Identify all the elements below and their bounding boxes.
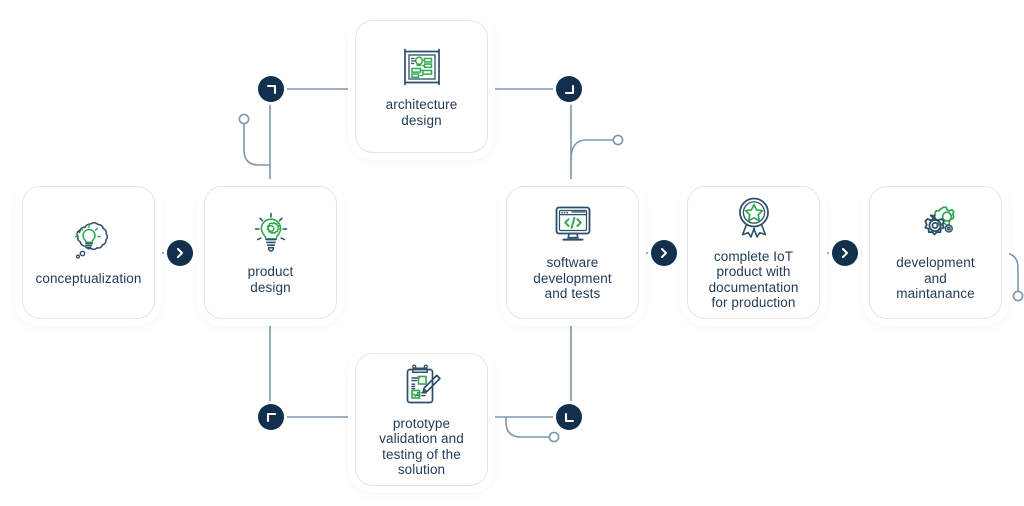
monitor-code-icon — [550, 203, 596, 247]
elbow-down-left-icon — [563, 83, 576, 96]
node-label: software development and tests — [533, 255, 611, 302]
node-complete-iot-product[interactable]: complete IoT product with documentation … — [687, 186, 820, 319]
port-stub-upper-right — [613, 135, 622, 144]
arrow-software-to-complete-iot[interactable] — [651, 240, 677, 266]
port-stub-upper-left — [239, 114, 248, 123]
wire-stub-upper-left — [244, 119, 270, 165]
node-label: prototype validation and testing of the … — [379, 416, 464, 478]
corner-product-design-to-prototype[interactable] — [258, 404, 284, 430]
node-label: development and maintanance — [896, 255, 974, 302]
wire-stub-lower-right — [506, 417, 554, 437]
node-label: complete IoT product with documentation … — [709, 249, 799, 311]
chevron-right-icon — [658, 247, 670, 259]
node-label: product design — [248, 264, 294, 295]
wire-stub-upper-right — [571, 140, 618, 160]
clipboard-checklist-pencil-icon — [399, 362, 445, 408]
node-prototype-validation[interactable]: prototype validation and testing of the … — [355, 353, 488, 486]
node-product-design[interactable]: product design — [204, 186, 337, 319]
node-label: architecture design — [386, 97, 458, 128]
blueprint-flowchart-icon — [398, 45, 446, 89]
corner-product-design-to-architecture[interactable] — [258, 76, 284, 102]
award-ribbon-star-icon — [732, 195, 776, 241]
corner-architecture-to-software[interactable] — [556, 76, 582, 102]
node-software-development[interactable]: software development and tests — [506, 186, 639, 319]
chevron-right-icon — [839, 247, 851, 259]
node-development-maintenance[interactable]: development and maintanance — [869, 186, 1002, 319]
elbow-up-left-icon — [563, 411, 576, 424]
gears-icon — [913, 203, 959, 247]
corner-prototype-to-software[interactable] — [556, 404, 582, 430]
port-stub-lower-right — [549, 432, 558, 441]
arrow-conceptualization-to-product-design[interactable] — [167, 240, 193, 266]
wire-stub-far-right — [1002, 253, 1018, 296]
thought-bubble-lightbulb-icon — [66, 219, 112, 263]
arrow-complete-iot-to-development[interactable] — [832, 240, 858, 266]
node-architecture-design[interactable]: architecture design — [355, 20, 488, 153]
lightbulb-gear-icon — [249, 210, 293, 256]
node-label: conceptualization — [35, 271, 141, 287]
node-conceptualization[interactable]: conceptualization — [22, 186, 155, 319]
flow-diagram-canvas: conceptualization product design — [0, 0, 1024, 506]
elbow-up-right-icon — [265, 83, 278, 96]
port-stub-far-right — [1013, 291, 1022, 300]
elbow-right-down-icon — [265, 411, 278, 424]
chevron-right-icon — [174, 247, 186, 259]
